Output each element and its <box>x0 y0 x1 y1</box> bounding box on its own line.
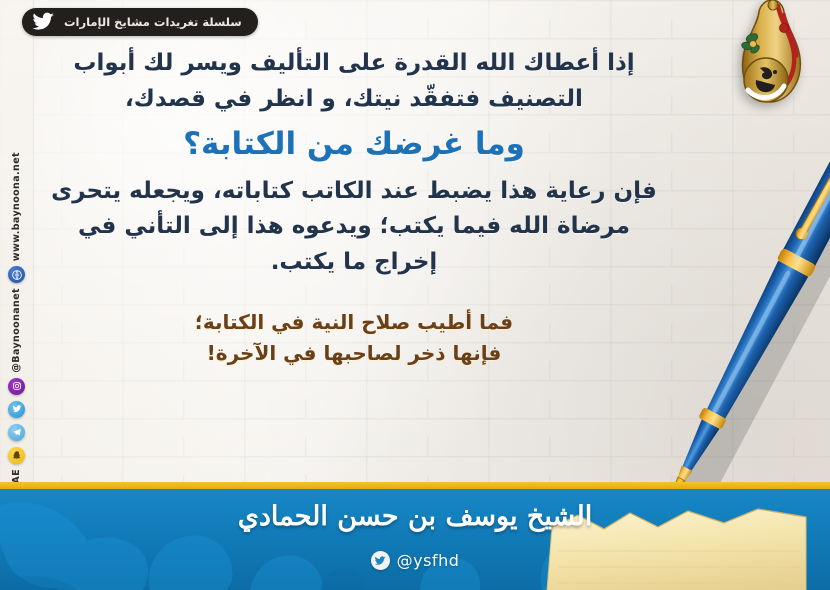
islamic-calligraphy-ornament <box>732 0 808 128</box>
author-signature: الشيخ يوسف بن حسن الحمادي <box>0 501 830 532</box>
author-handle-text: @ysfhd <box>397 551 460 570</box>
footer-gold-stripe <box>0 482 830 489</box>
quote-content: إذا أعطاك الله القدرة على التأليف ويسر ل… <box>44 46 664 369</box>
quote-card: www.baynoona.net @Baynoonanet @Baynoonan… <box>0 0 830 590</box>
rail-handle-net-label: @Baynoonanet <box>11 288 22 373</box>
author-handle[interactable]: @ysfhd <box>0 551 830 570</box>
instagram-icon[interactable] <box>8 378 25 395</box>
rail-website-label: www.baynoona.net <box>11 152 22 261</box>
footer: الشيخ يوسف بن حسن الحمادي @ysfhd <box>0 482 830 590</box>
gold-line-two: فإنها ذخر لصاحبها في الآخرة! <box>44 338 664 369</box>
gold-closing-block: فما أطيب صلاح النية في الكتابة؛ فإنها ذخ… <box>44 307 664 369</box>
gold-line-one: فما أطيب صلاح النية في الكتابة؛ <box>44 307 664 338</box>
snapchat-icon[interactable] <box>8 447 25 464</box>
website-icon[interactable] <box>8 266 25 283</box>
highlight-question: وما غرضك من الكتابة؟ <box>44 121 664 168</box>
footer-blue-panel: الشيخ يوسف بن حسن الحمادي @ysfhd <box>0 489 830 590</box>
series-badge-label: سلسلة تغريدات مشايخ الإمارات <box>64 15 242 29</box>
twitter-icon[interactable] <box>8 401 25 418</box>
series-badge[interactable]: سلسلة تغريدات مشايخ الإمارات <box>22 8 258 36</box>
paragraph-two: فإن رعاية هذا يضبط عند الكاتب كتاباته، و… <box>44 174 664 281</box>
twitter-bird-icon <box>371 551 390 570</box>
telegram-icon[interactable] <box>8 424 25 441</box>
twitter-bird-icon <box>28 7 58 37</box>
paragraph-one: إذا أعطاك الله القدرة على التأليف ويسر ل… <box>44 46 664 117</box>
